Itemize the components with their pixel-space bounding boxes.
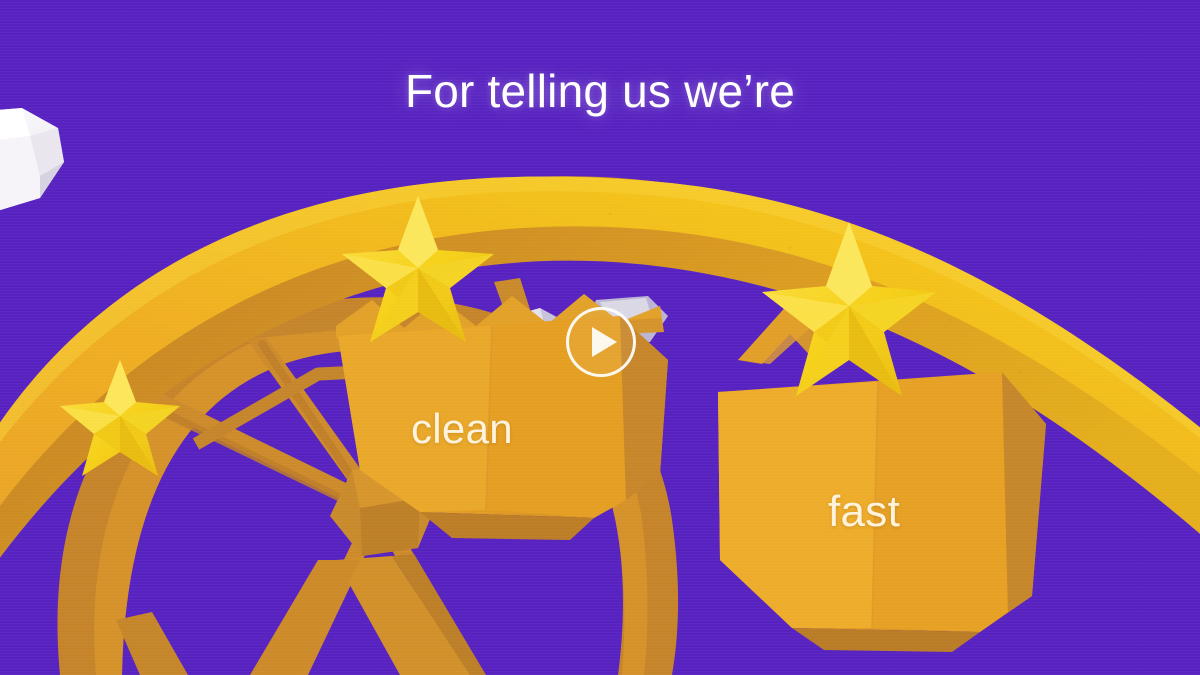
play-triangle-icon: [592, 327, 617, 357]
video-frame: For telling us we’re clean fast: [0, 0, 1200, 675]
cloud-top-left: [0, 108, 64, 212]
play-button[interactable]: [566, 307, 636, 377]
